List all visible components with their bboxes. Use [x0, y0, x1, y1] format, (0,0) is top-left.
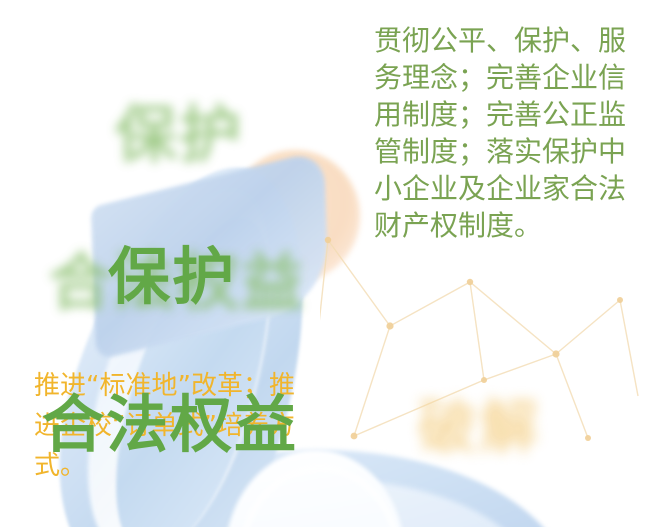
- headline-break-development-bottleneck: 破解 发展瓶颈 破解 发展瓶颈: [336, 310, 664, 527]
- headline-gold-front: 破解 发展瓶颈: [336, 458, 664, 527]
- paragraph-fairness-protection-service: 贯彻公平、保护、服务理念；完善企业信用制度；完善公正监管制度；落实保护中小企业及…: [374, 22, 642, 244]
- headline-green-shadow-line1: 保护: [115, 98, 377, 172]
- headline-green-line1: 保护: [108, 240, 370, 314]
- headline-green-front: 保护 合法权益: [0, 166, 370, 527]
- poster-canvas: 保护 合法权益 保护 合法权益 贯彻公平、保护、服务理念；完善企业信用制度；完善…: [0, 0, 664, 527]
- headline-green-line2: 合法权益: [42, 388, 370, 462]
- headline-gold-shadow-line1: 破解: [418, 390, 664, 464]
- headline-protect-legal-rights: 保护 合法权益 保护 合法权益: [0, 18, 370, 527]
